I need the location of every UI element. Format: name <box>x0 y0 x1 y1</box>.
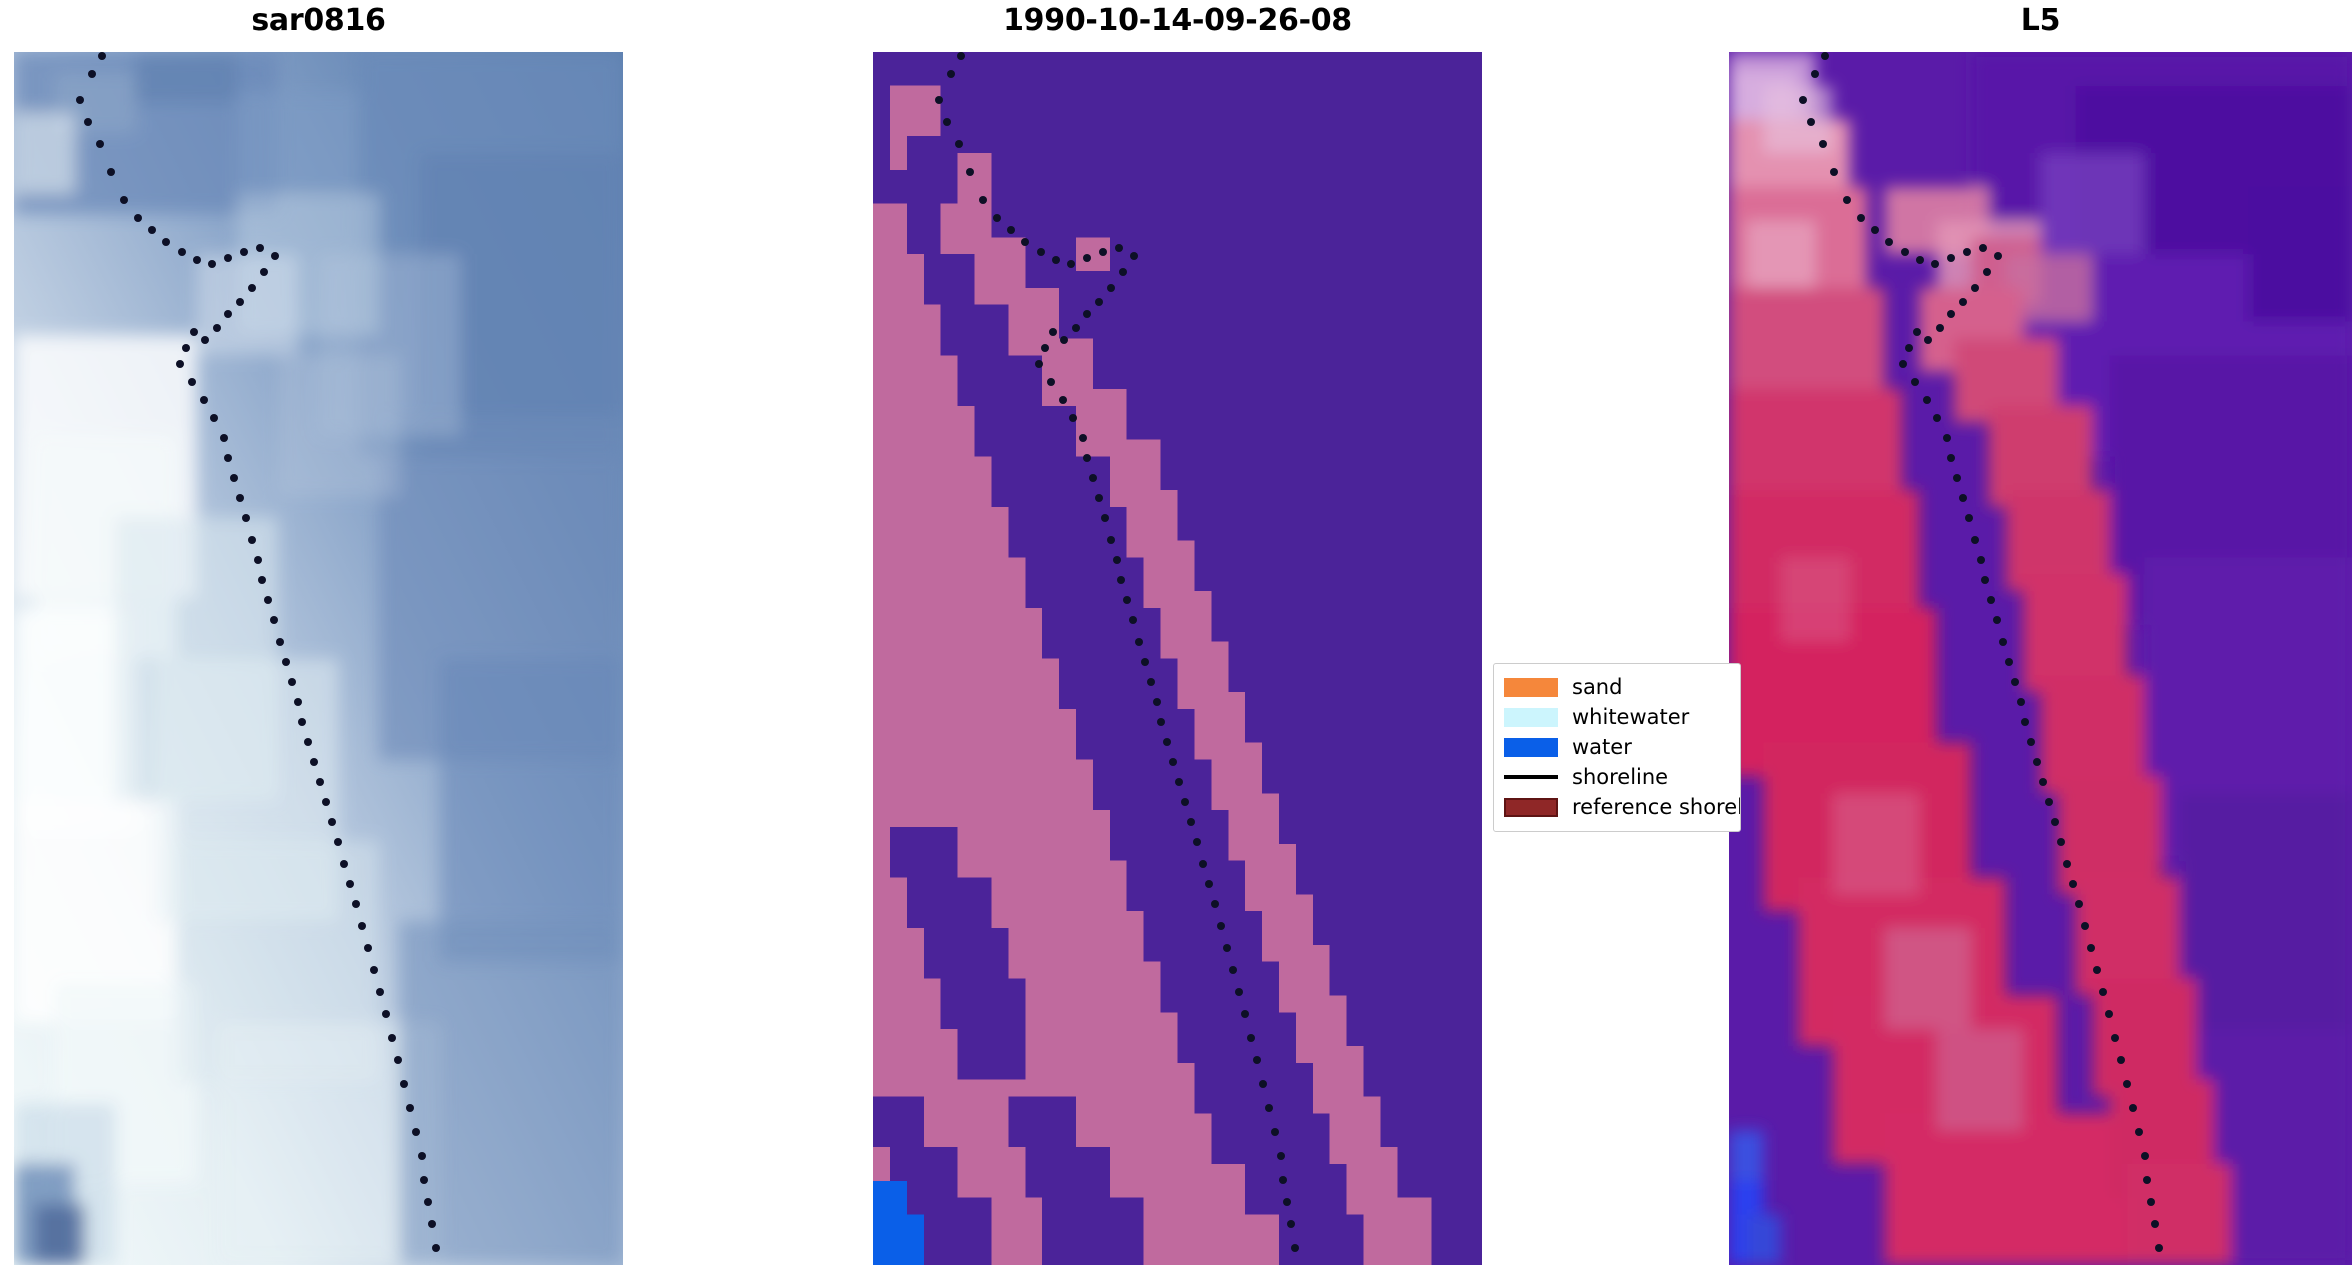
panel-title-sar: sar0816 <box>14 4 623 38</box>
legend-item-whitewater[interactable]: whitewater <box>1504 702 1730 732</box>
legend-label-reference-shoreline: reference shoreli <box>1572 795 1741 819</box>
legend-item-sand[interactable]: sand <box>1504 672 1730 702</box>
whitewater-swatch-icon <box>1504 708 1558 727</box>
shoreline-line-icon <box>1504 775 1558 779</box>
l5-image <box>1729 52 2352 1265</box>
legend-label-whitewater: whitewater <box>1572 705 1689 729</box>
legend-item-water[interactable]: water <box>1504 732 1730 762</box>
panel-classified[interactable] <box>873 52 1482 1265</box>
panel-title-l5: L5 <box>1729 4 2352 38</box>
panel-title-classified: 1990-10-14-09-26-08 <box>873 4 1482 38</box>
panel-sar[interactable] <box>14 52 623 1265</box>
panel-l5[interactable] <box>1729 52 2352 1265</box>
legend-label-water: water <box>1572 735 1632 759</box>
reference-shoreline-swatch-icon <box>1504 798 1558 817</box>
legend[interactable]: sand whitewater water shoreline referenc… <box>1493 663 1741 832</box>
water-swatch-icon <box>1504 738 1558 757</box>
sand-swatch-icon <box>1504 678 1558 697</box>
legend-item-shoreline[interactable]: shoreline <box>1504 762 1730 792</box>
classified-image <box>873 52 1482 1265</box>
legend-item-reference-shoreline[interactable]: reference shoreli <box>1504 792 1730 822</box>
legend-label-sand: sand <box>1572 675 1622 699</box>
legend-label-shoreline: shoreline <box>1572 765 1668 789</box>
sar-image <box>14 52 623 1265</box>
figure-canvas: sar0816 <box>0 0 2352 1283</box>
